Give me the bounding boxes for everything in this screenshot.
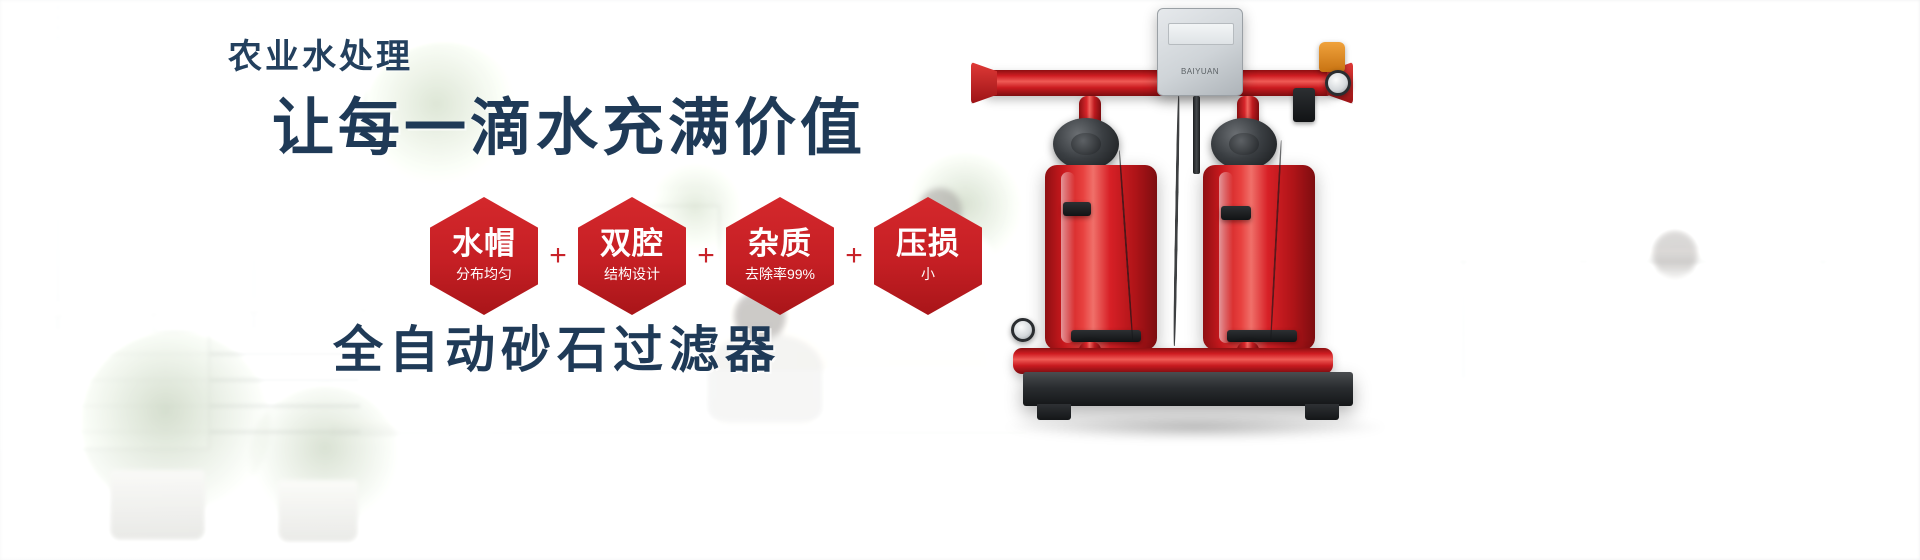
three-way-valve-right	[1211, 118, 1277, 170]
bottom-manifold-pipe	[1013, 348, 1333, 374]
pipe-flange-left	[971, 62, 997, 104]
tank-fitting	[1063, 202, 1091, 216]
feature-badge-row: 水帽 分布均匀 + 双腔 结构设计 + 杂质 去除率99% + 压损 小	[430, 197, 982, 315]
feature-badge-1: 水帽 分布均匀	[430, 197, 538, 315]
plus-separator-icon: +	[834, 241, 874, 271]
base-foot	[1037, 404, 1071, 420]
banner-subline: 全自动砂石过滤器	[333, 325, 781, 375]
equipment-base-frame	[1023, 372, 1353, 406]
base-foot	[1305, 404, 1339, 420]
filter-tank-right	[1203, 165, 1315, 350]
banner-eyebrow: 农业水处理	[228, 40, 413, 74]
feature-badge-title: 水帽	[452, 228, 516, 261]
hero-banner: 农业水处理 让每一滴水充满价值 全自动砂石过滤器 水帽 分布均匀 + 双腔 结构…	[0, 0, 1920, 560]
feature-badge-title: 双腔	[600, 228, 664, 261]
tank-fitting	[1221, 206, 1251, 220]
banner-headline: 让每一滴水充满价值	[272, 98, 866, 160]
pressure-gauge-icon	[1325, 70, 1351, 96]
feature-badge-title: 压损	[896, 228, 960, 261]
controller-brand-label: BAIYUAN	[1158, 67, 1242, 76]
pressure-gauge-icon	[1011, 318, 1035, 342]
controller-box: BAIYUAN	[1157, 8, 1243, 96]
feature-badge-title: 杂质	[748, 228, 812, 261]
feature-badge-2: 双腔 结构设计	[578, 197, 686, 315]
controller-display	[1168, 23, 1234, 45]
feature-badge-subtitle: 去除率99%	[745, 264, 815, 284]
feature-badge-4: 压损 小	[874, 197, 982, 315]
tank-clamp	[1071, 330, 1141, 342]
feature-badge-subtitle: 小	[921, 264, 935, 284]
product-image-sand-filter: BAIYUAN	[975, 0, 1445, 560]
plus-separator-icon: +	[686, 241, 726, 271]
tank-clamp	[1227, 330, 1297, 342]
controller-mounting-post	[1193, 96, 1200, 174]
plus-separator-icon: +	[538, 241, 578, 271]
feature-badge-3: 杂质 去除率99%	[726, 197, 834, 315]
filter-tank-left	[1045, 165, 1157, 350]
banner-copy: 农业水处理 让每一滴水充满价值 全自动砂石过滤器 水帽 分布均匀 + 双腔 结构…	[0, 0, 1000, 560]
feature-badge-subtitle: 结构设计	[604, 264, 660, 284]
three-way-valve-left	[1053, 118, 1119, 170]
pipe-clamp	[1293, 88, 1315, 122]
air-release-valve-icon	[1319, 42, 1345, 72]
feature-badge-subtitle: 分布均匀	[456, 264, 512, 284]
control-cable	[1173, 96, 1180, 346]
